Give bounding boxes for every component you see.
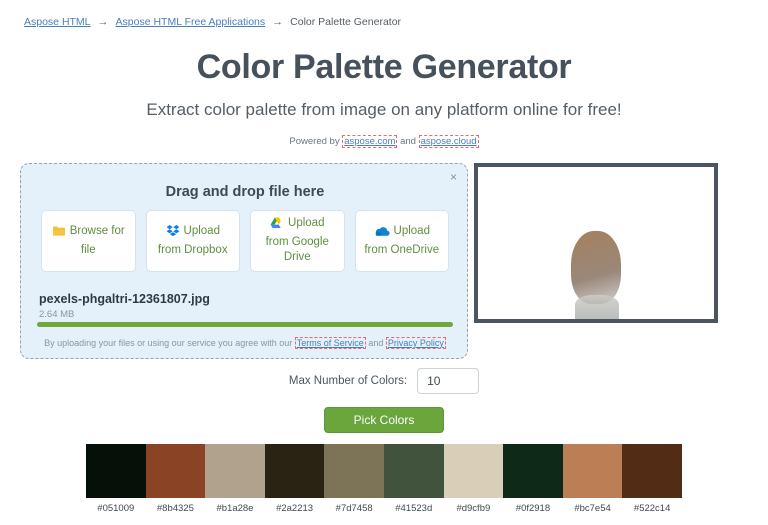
image-preview (474, 163, 718, 323)
aspose-cloud-link[interactable]: aspose.cloud (420, 136, 478, 147)
terms-notice: By uploading your files or using our ser… (21, 338, 469, 348)
dropzone-title: Drag and drop file here (21, 184, 469, 200)
powered-by-prefix: Powered by (289, 136, 339, 147)
uploaded-file-name: pexels-phgaltri-12361807.jpg (39, 292, 210, 306)
close-icon[interactable]: × (450, 171, 457, 183)
terms-notice-prefix: By uploading your files or using our ser… (44, 338, 292, 348)
dropbox-icon (166, 224, 180, 243)
max-colors-label: Max Number of Colors: (289, 375, 407, 387)
color-swatch[interactable] (384, 444, 444, 498)
google-drive-icon (270, 217, 284, 235)
color-swatch[interactable] (563, 444, 623, 498)
breadcrumb: Aspose HTML → Aspose HTML Free Applicati… (24, 16, 401, 28)
color-swatch[interactable] (146, 444, 206, 498)
dropbox-button-label-1: Upload (184, 225, 220, 237)
color-hex-label: #051009 (86, 503, 146, 514)
uploaded-file-size: 2.64 MB (39, 309, 74, 320)
powered-by-conjunction: and (400, 136, 416, 147)
breadcrumb-item-aspose-html[interactable]: Aspose HTML (24, 16, 91, 28)
gdrive-button-label-2: from Google (266, 236, 329, 248)
color-swatch[interactable] (503, 444, 563, 498)
preview-photo (544, 167, 648, 319)
color-swatch[interactable] (265, 444, 325, 498)
upload-buttons-group: Browse for file Upload from Dropbox Uplo… (41, 210, 449, 272)
pick-colors-button[interactable]: Pick Colors (324, 407, 444, 433)
breadcrumb-separator-icon: → (98, 16, 109, 28)
terms-notice-conjunction: and (368, 338, 383, 348)
color-swatch[interactable] (444, 444, 504, 498)
onedrive-button-label-1: Upload (394, 225, 430, 237)
browse-button-label-2: file (81, 244, 96, 256)
page-subtitle: Extract color palette from image on any … (0, 100, 768, 120)
upload-from-dropbox-button[interactable]: Upload from Dropbox (146, 210, 241, 272)
browse-for-file-button[interactable]: Browse for file (41, 210, 136, 272)
gdrive-button-label-1: Upload (288, 217, 324, 229)
color-hex-label: #d9cfb9 (444, 503, 504, 514)
color-palette-hex-labels: #051009#8b4325#b1a28e#2a2213#7d7458#4152… (86, 503, 682, 514)
color-hex-label: #522c14 (622, 503, 682, 514)
color-swatch[interactable] (86, 444, 146, 498)
color-palette-swatches (86, 444, 682, 498)
upload-progress-fill (37, 322, 453, 327)
breadcrumb-item-current: Color Palette Generator (290, 16, 401, 28)
powered-by-line: Powered by aspose.com and aspose.cloud (0, 136, 768, 147)
color-hex-label: #2a2213 (265, 503, 325, 514)
privacy-policy-link[interactable]: Privacy Policy (387, 338, 445, 348)
color-swatch[interactable] (622, 444, 682, 498)
breadcrumb-item-free-applications[interactable]: Aspose HTML Free Applications (116, 16, 266, 28)
preview-photo-foreground (575, 295, 619, 319)
color-hex-label: #7d7458 (324, 503, 384, 514)
max-colors-input[interactable] (417, 368, 479, 394)
color-hex-label: #0f2918 (503, 503, 563, 514)
gdrive-button-label-3: Drive (284, 251, 311, 263)
page-title: Color Palette Generator (0, 48, 768, 87)
folder-icon (52, 225, 66, 243)
breadcrumb-separator-icon-2: → (272, 16, 283, 28)
onedrive-button-label-2: from OneDrive (364, 244, 439, 256)
color-hex-label: #8b4325 (146, 503, 206, 514)
page-root: Aspose HTML → Aspose HTML Free Applicati… (0, 0, 768, 525)
terms-of-service-link[interactable]: Terms of Service (296, 338, 365, 348)
color-hex-label: #41523d (384, 503, 444, 514)
color-hex-label: #b1a28e (205, 503, 265, 514)
upload-from-google-drive-button[interactable]: Upload from Google Drive (250, 210, 345, 272)
color-hex-label: #bc7e54 (563, 503, 623, 514)
aspose-com-link[interactable]: aspose.com (343, 136, 396, 147)
file-dropzone[interactable]: × Drag and drop file here Browse for fil… (20, 163, 468, 359)
preview-photo-subject (571, 231, 621, 304)
onedrive-icon (374, 226, 390, 243)
max-colors-row: Max Number of Colors: (0, 368, 768, 394)
color-swatch[interactable] (324, 444, 384, 498)
browse-button-label-1: Browse for (70, 225, 125, 237)
color-swatch[interactable] (205, 444, 265, 498)
dropbox-button-label-2: from Dropbox (158, 244, 228, 256)
upload-progress-bar (37, 322, 453, 327)
upload-from-onedrive-button[interactable]: Upload from OneDrive (355, 210, 450, 272)
